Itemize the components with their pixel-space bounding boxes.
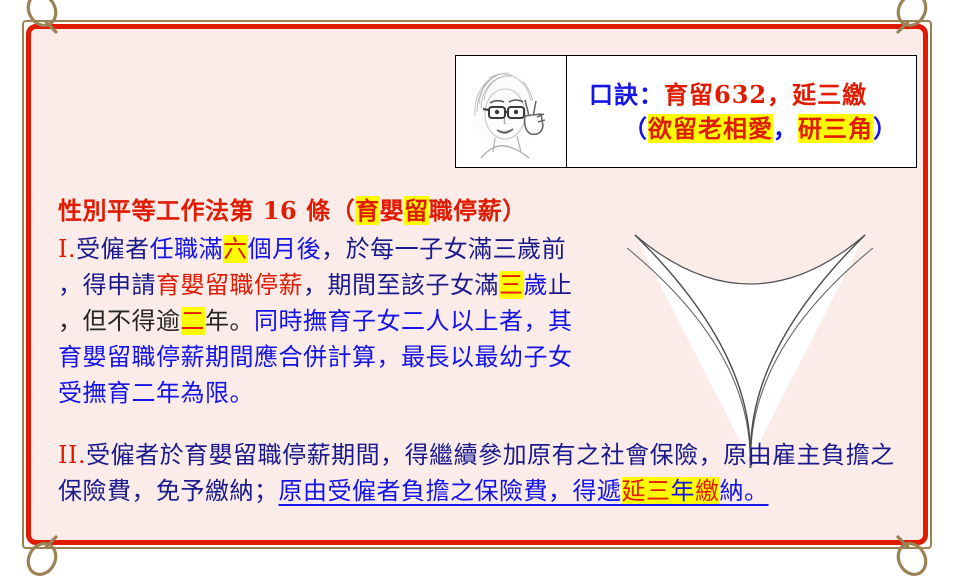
clause-2-line-2: 保險費，免予繳納；原由受僱者負擔之保險費，得遞延三年繳納。 (58, 473, 938, 509)
c2l2-highlight-yanshan: 延三 (622, 477, 671, 505)
c2l2-underlined: 原由受僱者負擔之保險費，得遞 (279, 477, 622, 505)
c1l3-b: 年。 (205, 307, 254, 335)
mnemonic-label: 口訣： (589, 80, 664, 109)
law-text-block: 性別平等工作法第 16 條（育嬰留職停薪） I.受僱者任職滿六個月後，於每一子女… (58, 193, 888, 509)
mnemonic-highlight-1: 欲留老相愛 (648, 114, 773, 143)
heading-ying: 嬰 (380, 196, 405, 225)
heading-highlight-yu: 育 (355, 196, 380, 225)
c1l1-c: 個月後 (248, 235, 322, 263)
c1l3-highlight-two: 二 (181, 307, 206, 335)
mnemonic-box: 口訣：育留632，延三繳 （欲留老相愛，研三角） (455, 55, 917, 168)
mnemonic-comma: ， (773, 114, 798, 143)
paragraph-gap (58, 411, 888, 437)
clause-1-line-4: 育嬰留職停薪期間應合併計算，最長以最幼子女 (58, 339, 888, 375)
c1l1-d: ，於每一子女滿三歲前 (321, 235, 566, 263)
clause-1-line-2: ，得申請育嬰留職停薪，期間至該子女滿三歲止 (58, 267, 888, 303)
c1l3-c: 同時撫育子女二人以上者，其 (254, 307, 573, 335)
heading-part-2: 職停薪） (429, 196, 527, 225)
heading-highlight-liu: 留 (404, 196, 429, 225)
c1l1-highlight-six: 六 (223, 235, 248, 263)
mnemonic-close-paren: ） (873, 114, 898, 143)
mnemonic-highlight-2: 研三角 (798, 114, 873, 143)
c2l2-highlight-jiao: 繳 (695, 477, 720, 505)
clause-1-marker: I. (58, 235, 76, 263)
mnemonic-portrait-cell (456, 56, 567, 167)
slide-content: 口訣：育留632，延三繳 （欲留老相愛，研三角） 性別平等工作法第 16 條（育… (30, 28, 924, 541)
c1l2-c: ，期間至該子女滿 (303, 271, 499, 299)
c1l1-b: 任職滿 (150, 235, 224, 263)
c1l2-b: 育嬰留職停薪 (156, 271, 303, 299)
c2l1-text: 受僱者於育嬰留職停薪期間，得繼續參加原有之社會保險，原由雇主負擔之 (86, 441, 895, 469)
c2l2-a: 保險費，免予繳納； (58, 477, 279, 505)
mnemonic-line-1-body: 育留632，延三繳 (664, 80, 867, 109)
mnemonic-text-cell: 口訣：育留632，延三繳 （欲留老相愛，研三角） (567, 56, 916, 167)
clause-2-line-1: II.受僱者於育嬰留職停薪期間，得繼續參加原有之社會保險，原由雇主負擔之 (58, 437, 938, 473)
clause-1-line-3: ，但不得逾二年。同時撫育子女二人以上者，其 (58, 303, 888, 339)
clause-1-line-5: 受撫育二年為限。 (58, 375, 888, 411)
clause-1-line-1: I.受僱者任職滿六個月後，於每一子女滿三歲前 (58, 231, 888, 267)
c2l2-tail: 納。 (720, 477, 769, 505)
c1l2-e: 止 (548, 271, 573, 299)
c1l2-a: ，得申請 (58, 271, 156, 299)
c2l2-highlight-nian: 年 (671, 477, 696, 505)
c1l3-a: ，但不得逾 (58, 307, 181, 335)
sketch-portrait-icon (459, 60, 563, 164)
heading-part-1: 性別平等工作法第 16 條（ (58, 196, 355, 225)
law-article-heading: 性別平等工作法第 16 條（育嬰留職停薪） (58, 193, 888, 229)
mnemonic-open-paren: （ (623, 114, 648, 143)
mnemonic-line-1: 口訣：育留632，延三繳 (589, 78, 898, 111)
c1l2-highlight-three: 三 (499, 271, 524, 299)
c1l1-a: 受僱者 (76, 235, 150, 263)
c1l2-d: 歲 (524, 271, 549, 299)
clause-2-marker: II. (58, 441, 86, 469)
mnemonic-line-2: （欲留老相愛，研三角） (589, 112, 898, 145)
slide-canvas: 口訣：育留632，延三繳 （欲留老相愛，研三角） 性別平等工作法第 16 條（育… (0, 0, 954, 569)
